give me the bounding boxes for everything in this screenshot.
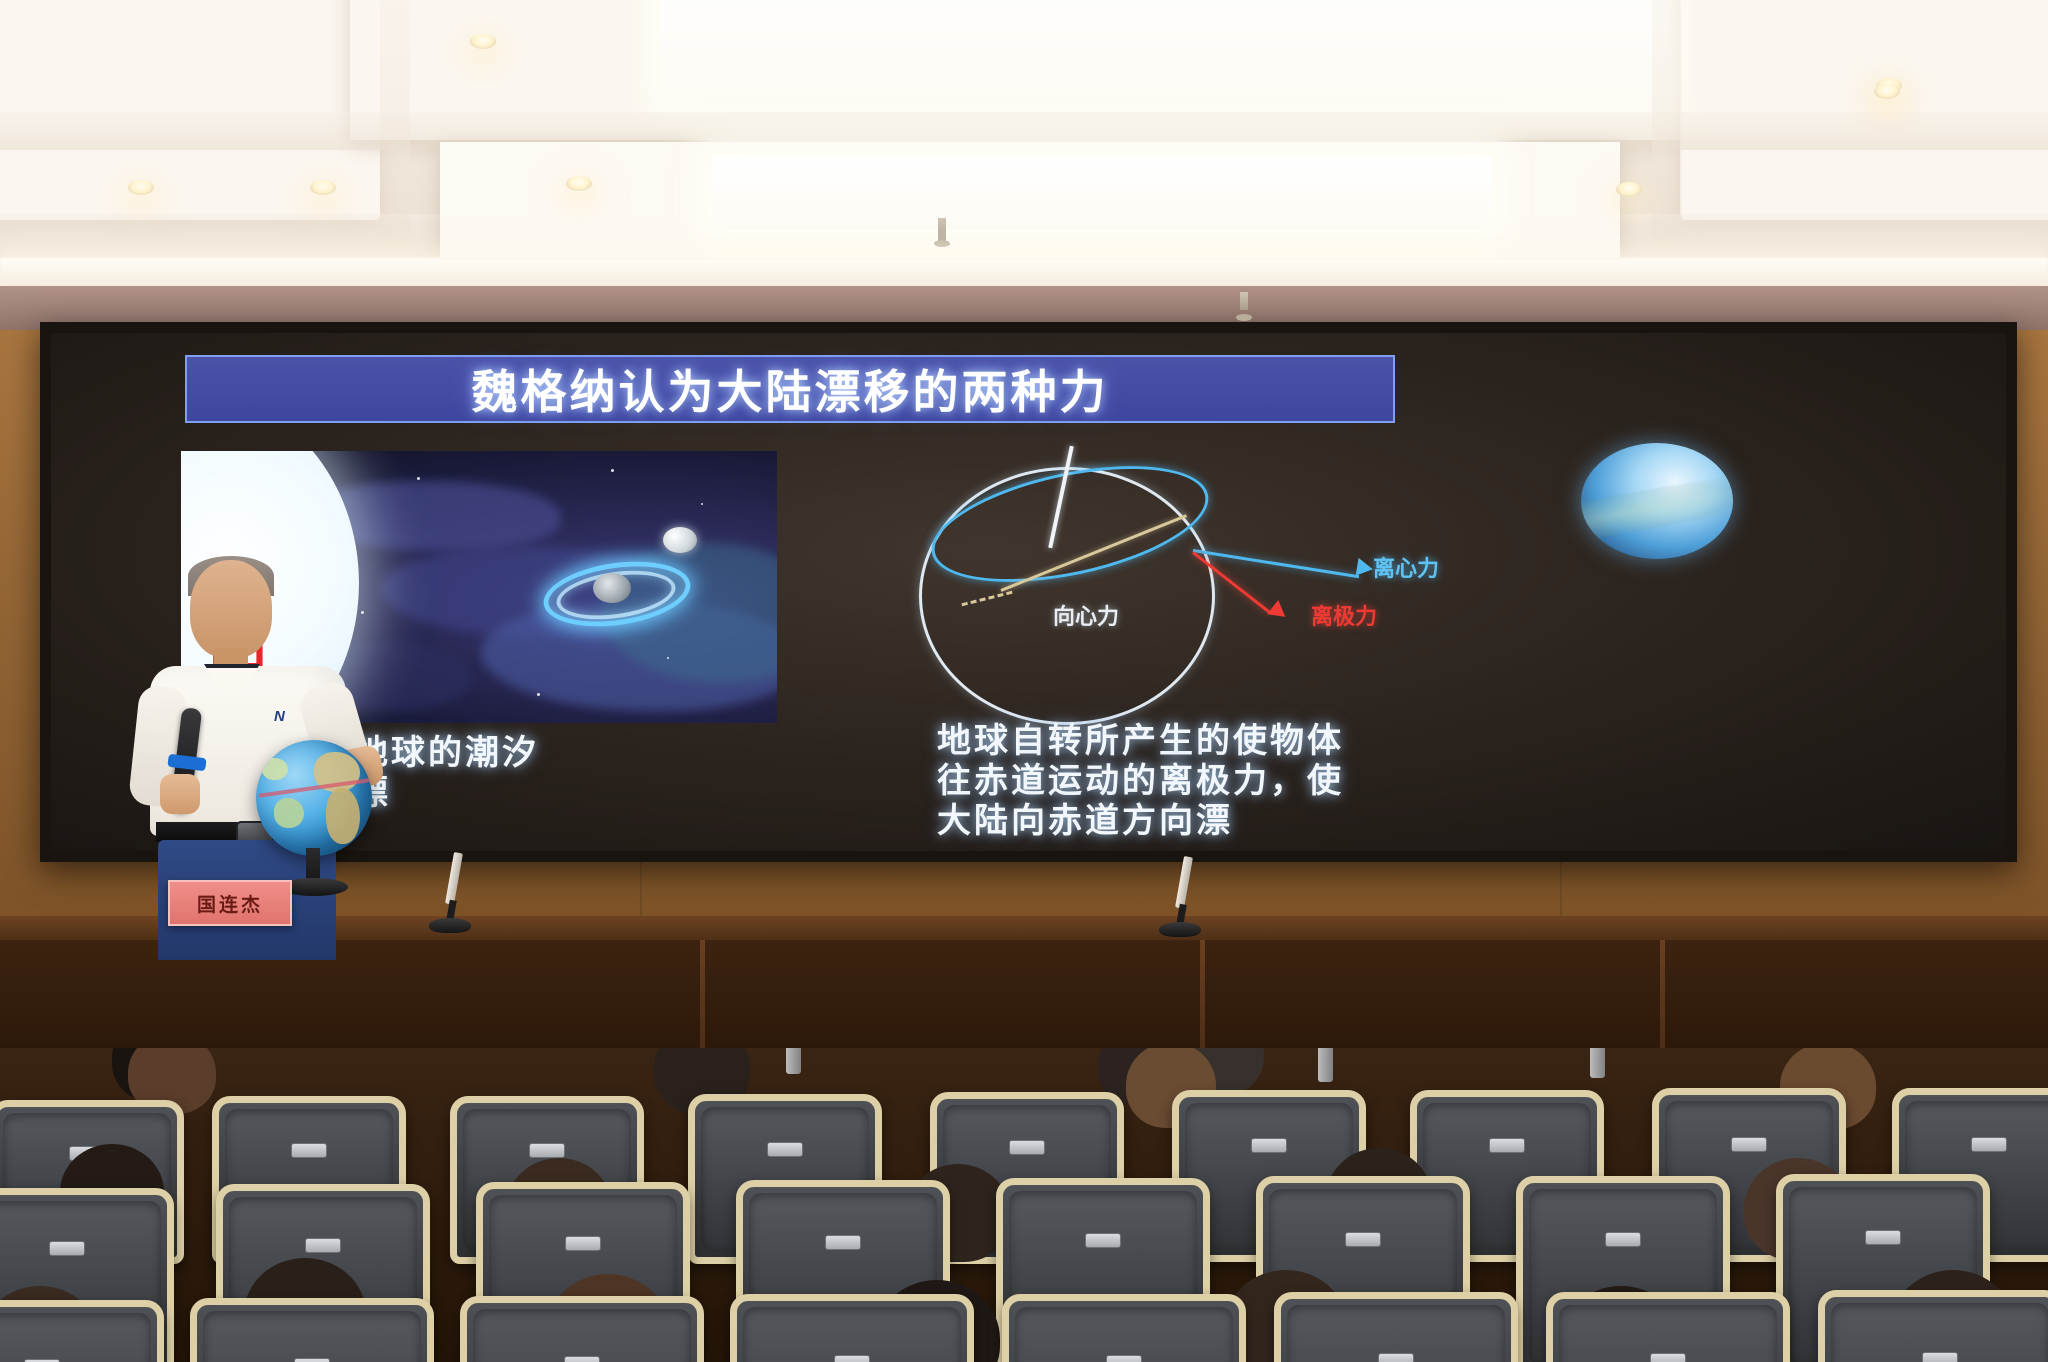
slide-title-bar: 魏格纳认为大陆漂移的两种力 xyxy=(185,355,1395,423)
earth-graphic xyxy=(593,573,631,603)
presenter-nameplate: 国连杰 xyxy=(168,880,292,926)
label-pole-fleeing: 离极力 xyxy=(1311,599,1377,631)
earth-moon-system xyxy=(543,547,681,625)
slide-title: 魏格纳认为大陆漂移的两种力 xyxy=(472,356,1109,422)
pole-fleeing-arrow-head xyxy=(1267,600,1291,624)
centrifugal-arrow-head xyxy=(1356,558,1375,578)
water-bottle[interactable] xyxy=(786,1048,801,1074)
water-bottle[interactable] xyxy=(1590,1048,1605,1078)
audience-area xyxy=(0,1048,2048,1362)
ceiling-beam xyxy=(380,0,410,300)
audience-seat[interactable] xyxy=(460,1296,704,1362)
audience-seat[interactable] xyxy=(1274,1292,1518,1362)
ceiling-coffer xyxy=(1680,0,2048,220)
label-centripetal: 向心力 xyxy=(1053,599,1119,631)
moon-graphic xyxy=(663,527,697,553)
slide-force-diagram: 离心力 离极力 向心力 xyxy=(841,431,1481,731)
cove-light xyxy=(0,258,2048,288)
ceiling-panel-light xyxy=(660,0,1670,110)
label-centrifugal: 离心力 xyxy=(1373,551,1439,583)
audience-seat[interactable] xyxy=(730,1294,974,1362)
globe-prop[interactable] xyxy=(256,740,372,900)
sprinkler-icon xyxy=(938,218,946,244)
sprinkler-icon xyxy=(1240,292,1248,310)
audience-seat[interactable] xyxy=(1002,1294,1246,1362)
slide-caption-right: 地球自转所产生的使物体 往赤道运动的离极力，使 大陆向赤道方向漂 xyxy=(937,721,1344,841)
slide-earth-sphere xyxy=(1581,443,1733,559)
audience-seat[interactable] xyxy=(1546,1292,1790,1362)
globe-sphere xyxy=(256,740,372,856)
ceiling-downlight xyxy=(566,176,592,191)
audience-seat[interactable] xyxy=(1818,1290,2048,1362)
ceiling-downlight xyxy=(128,180,154,195)
ceiling-downlight xyxy=(1874,84,1900,99)
ceiling-downlight xyxy=(1616,182,1642,197)
ceiling-beam xyxy=(1652,0,1682,300)
presenter-head xyxy=(190,560,272,658)
presenter-left-hand xyxy=(160,774,200,814)
lecture-hall-scene: 魏格纳认为大陆漂移的两种力 太阳 xyxy=(0,0,2048,1362)
audience-seat[interactable] xyxy=(190,1298,434,1362)
ceiling-panel-light xyxy=(712,156,1492,230)
ceiling-downlight xyxy=(470,34,496,49)
water-bottle[interactable] xyxy=(1318,1048,1333,1082)
ceiling-downlight xyxy=(310,180,336,195)
presenter-name: 国连杰 xyxy=(197,890,263,917)
audience-seat[interactable] xyxy=(0,1300,164,1362)
